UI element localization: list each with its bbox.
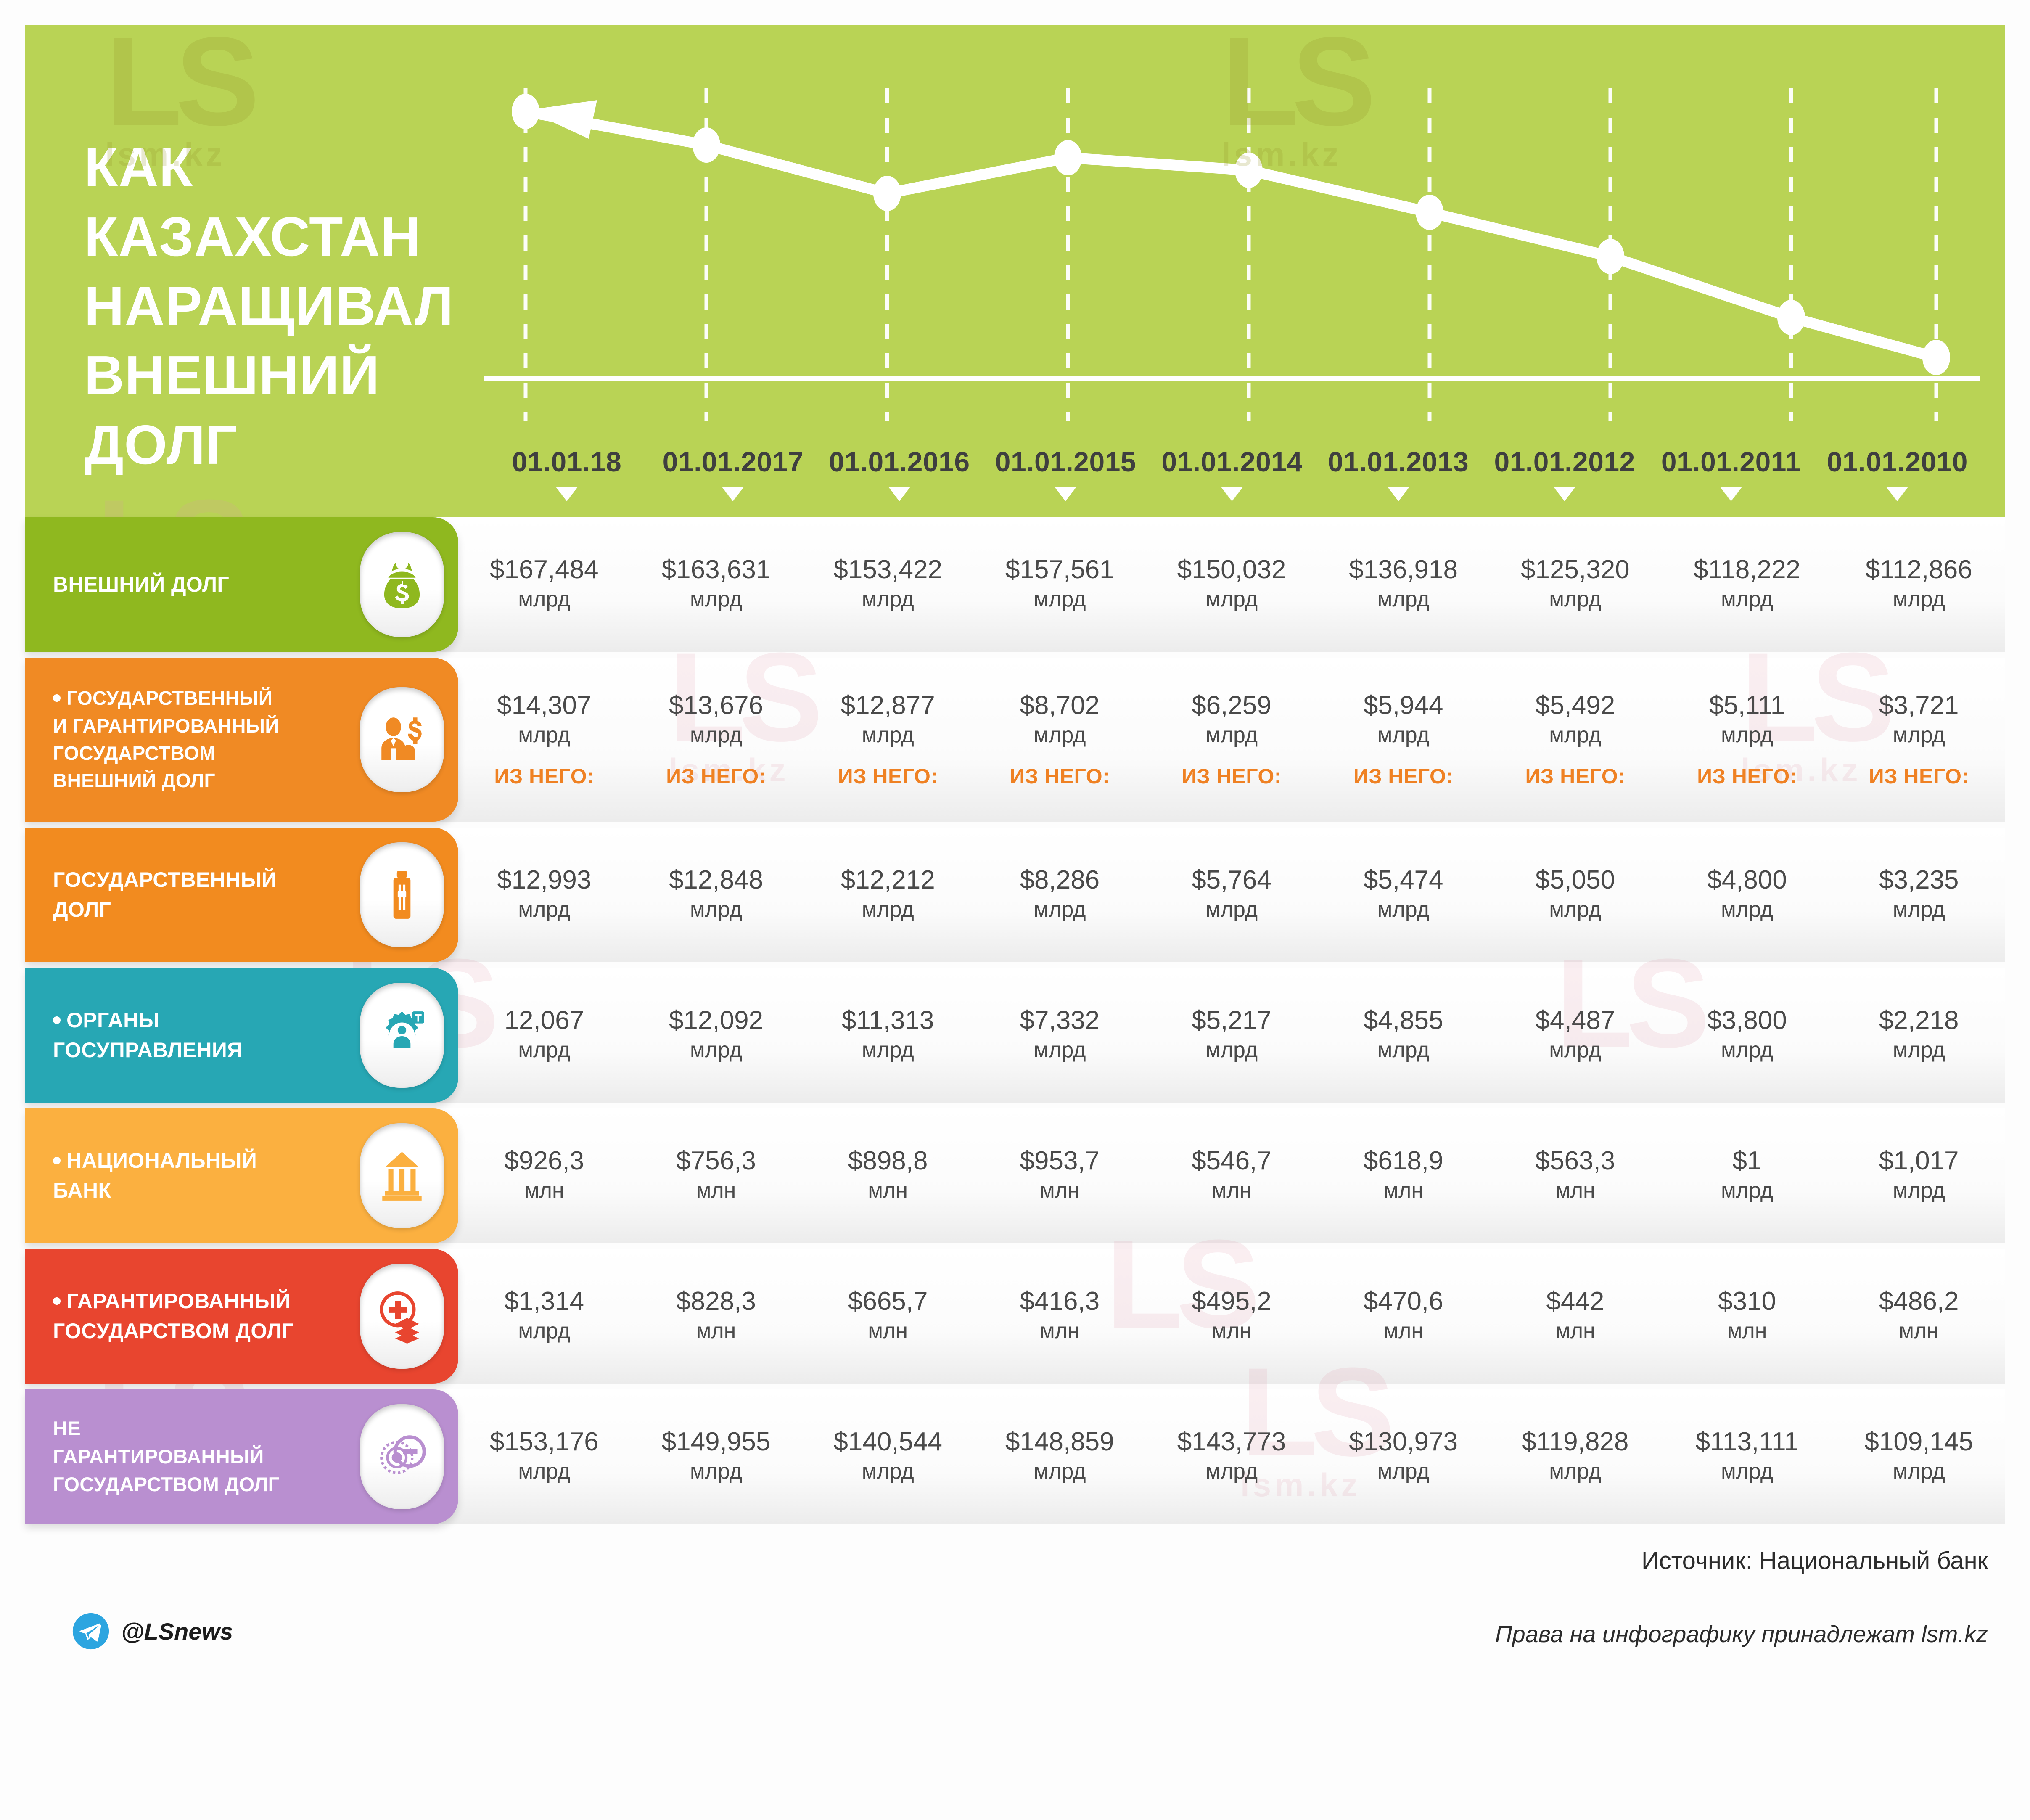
value-number: $1 bbox=[1664, 1146, 1831, 1175]
value-cell: $14,307млрдИЗ НЕГО: bbox=[458, 691, 630, 788]
row-icon-pod bbox=[360, 687, 444, 792]
value-unit: млрд bbox=[1148, 720, 1315, 750]
value-unit: млрд bbox=[1148, 1035, 1315, 1065]
row-values: $14,307млрдИЗ НЕГО: $13,676млрдИЗ НЕГО: … bbox=[458, 658, 2005, 822]
date-pointer-cell bbox=[1315, 487, 1482, 508]
row-values: $1,314млрд $828,3млн $665,7млн $416,3млн… bbox=[458, 1249, 2005, 1384]
chart-markers bbox=[512, 94, 1950, 375]
rights-note: Права на инфографику принадлежат lsm.kz bbox=[1495, 1620, 1988, 1648]
date-label: 01.01.2015 bbox=[983, 446, 1149, 479]
value-unit: млрд bbox=[1664, 1176, 1831, 1205]
value-cell: $310млн bbox=[1661, 1287, 1833, 1346]
value-cell: $11,313млрд bbox=[802, 1006, 974, 1065]
value-number: $13,676 bbox=[633, 691, 800, 720]
value-unit: млрд bbox=[976, 895, 1143, 924]
title-line-4: ВНЕШНИЙ bbox=[84, 341, 505, 410]
chart-series-line bbox=[526, 111, 1936, 357]
value-cell: $953,7млн bbox=[974, 1146, 1146, 1205]
value-number: $486,2 bbox=[1835, 1287, 2002, 1316]
value-cell: $3,235млрд bbox=[1833, 865, 2005, 924]
value-cell: $12,092млрд bbox=[630, 1006, 802, 1065]
value-unit: млн bbox=[1664, 1316, 1831, 1346]
row-label-line: ДОЛГ bbox=[53, 895, 352, 925]
telegram-icon[interactable] bbox=[71, 1612, 110, 1651]
value-unit: млрд bbox=[804, 585, 971, 614]
value-unit: млрд bbox=[1664, 1457, 1831, 1486]
value-cell: $1,314млрд bbox=[458, 1287, 630, 1346]
value-unit: млрд bbox=[1492, 720, 1659, 750]
value-cell: $5,474млрд bbox=[1317, 865, 1489, 924]
value-unit: млн bbox=[633, 1176, 800, 1205]
value-number: 12,067 bbox=[461, 1006, 628, 1035]
value-cell: $136,918млрд bbox=[1317, 555, 1489, 614]
value-cell: $143,773млрд bbox=[1146, 1427, 1318, 1486]
value-unit: млрд bbox=[1835, 720, 2002, 750]
value-cell: $6,259млрдИЗ НЕГО: bbox=[1146, 691, 1318, 788]
debt-line-chart bbox=[484, 88, 1980, 421]
row-label-text: ГОСУДАРСТВЕННЫЙ bbox=[66, 687, 272, 709]
value-number: $8,702 bbox=[976, 691, 1143, 720]
money-plus-icon bbox=[375, 1289, 429, 1344]
value-number: $953,7 bbox=[976, 1146, 1143, 1175]
row-label: ВНЕШНИЙ ДОЛГ bbox=[25, 570, 360, 600]
value-unit: млрд bbox=[1320, 1035, 1487, 1065]
chart-svg bbox=[484, 88, 1980, 421]
title-line-2: КАЗАХСТАН bbox=[84, 202, 505, 271]
value-number: $495,2 bbox=[1148, 1287, 1315, 1316]
row-label: ГОСУДАРСТВЕННЫЙ ДОЛГ bbox=[25, 865, 360, 925]
triangle-down-icon bbox=[1720, 487, 1742, 501]
value-unit: млн bbox=[804, 1176, 971, 1205]
value-cell: $1млрд bbox=[1661, 1146, 1833, 1205]
value-unit: млрд bbox=[461, 1457, 628, 1486]
table-row: LS ВНЕШНИЙ ДОЛГ $167,484млрд $163,631млр… bbox=[25, 517, 2005, 652]
value-sublabel: ИЗ НЕГО: bbox=[461, 764, 628, 788]
value-number: $470,6 bbox=[1320, 1287, 1487, 1316]
value-cell: $4,487млрд bbox=[1489, 1006, 1661, 1065]
value-number: $5,474 bbox=[1320, 865, 1487, 894]
value-cell: $898,8млн bbox=[802, 1146, 974, 1205]
chart-date-axis: 01.01.18 01.01.2017 01.01.2016 01.01.201… bbox=[484, 446, 1980, 479]
date-label: 01.01.2016 bbox=[816, 446, 983, 479]
value-number: $3,721 bbox=[1835, 691, 2002, 720]
date-pointer-cell bbox=[1648, 487, 1814, 508]
hero-chart-band: LS lsm.kz LS lsm.kz КАК КАЗАХСТАН НАРАЩИ… bbox=[25, 25, 2005, 517]
table-row: ГОСУДАРСТВЕННЫЙ ДОЛГ $12,993млрд bbox=[25, 828, 2005, 962]
value-number: $756,3 bbox=[633, 1146, 800, 1175]
value-cell: $4,800млрд bbox=[1661, 865, 1833, 924]
value-unit: млрд bbox=[976, 1035, 1143, 1065]
value-cell: $140,544млрд bbox=[802, 1427, 974, 1486]
title-line-3: НАРАЩИВАЛ bbox=[84, 271, 505, 341]
table-row: LS lsm.kz LS lsm.kz НЕ ГАРАНТИРОВАННЫЙ Г… bbox=[25, 1389, 2005, 1524]
row-label-line: ГОСУПРАВЛЕНИЯ bbox=[53, 1035, 352, 1065]
row-label-text: ОРГАНЫ bbox=[66, 1008, 159, 1032]
row-label-line: ГОСУДАРСТВОМ ДОЛГ bbox=[53, 1316, 352, 1346]
date-pointer-row bbox=[484, 487, 1980, 508]
value-number: $5,492 bbox=[1492, 691, 1659, 720]
value-unit: млрд bbox=[633, 720, 800, 750]
value-unit: млрд bbox=[1148, 895, 1315, 924]
row-icon-pod bbox=[360, 983, 444, 1088]
triangle-down-icon bbox=[1554, 487, 1575, 501]
value-unit: млрд bbox=[1835, 1457, 2002, 1486]
value-unit: млрд bbox=[461, 1035, 628, 1065]
value-number: $618,9 bbox=[1320, 1146, 1487, 1175]
title-line-1: КАК bbox=[84, 132, 505, 202]
value-cell: $5,944млрдИЗ НЕГО: bbox=[1317, 691, 1489, 788]
date-pointer-cell bbox=[650, 487, 817, 508]
value-sublabel: ИЗ НЕГО: bbox=[1664, 764, 1831, 788]
value-cell: $470,6млн bbox=[1317, 1287, 1489, 1346]
value-sublabel: ИЗ НЕГО: bbox=[1492, 764, 1659, 788]
value-number: $5,050 bbox=[1492, 865, 1659, 894]
date-label: 01.01.2010 bbox=[1814, 446, 1981, 479]
value-unit: млрд bbox=[1320, 585, 1487, 614]
value-number: $112,866 bbox=[1835, 555, 2002, 584]
row-label-text: ГАРАНТИРОВАННЫЙ bbox=[66, 1289, 291, 1313]
value-unit: млрд bbox=[1148, 1457, 1315, 1486]
row-label-text: НАЦИОНАЛЬНЫЙ bbox=[66, 1149, 257, 1172]
row-label: ОРГАНЫ ГОСУПРАВЛЕНИЯ bbox=[25, 1005, 360, 1065]
value-sublabel: ИЗ НЕГО: bbox=[976, 764, 1143, 788]
page-footer: Источник: Национальный банк Права на инф… bbox=[25, 1530, 2005, 1681]
value-cell: $125,320млрд bbox=[1489, 555, 1661, 614]
row-icon-pod bbox=[360, 842, 444, 947]
value-number: $665,7 bbox=[804, 1287, 971, 1316]
telegram-link[interactable]: @LSnews bbox=[71, 1612, 233, 1651]
value-number: $148,859 bbox=[976, 1427, 1143, 1456]
value-number: $12,877 bbox=[804, 691, 971, 720]
value-unit: млн bbox=[1320, 1176, 1487, 1205]
table-row: LS LS ОРГАНЫ ГОСУПРАВЛЕНИЯ bbox=[25, 968, 2005, 1103]
value-number: $5,944 bbox=[1320, 691, 1487, 720]
date-pointer-cell bbox=[1814, 487, 1981, 508]
value-cell: $495,2млн bbox=[1146, 1287, 1318, 1346]
value-cell: $3,800млрд bbox=[1661, 1006, 1833, 1065]
value-number: $163,631 bbox=[633, 555, 800, 584]
date-pointer-cell bbox=[983, 487, 1149, 508]
value-cell: $5,111млрдИЗ НЕГО: bbox=[1661, 691, 1833, 788]
value-number: $136,918 bbox=[1320, 555, 1487, 584]
row-label-line: НАЦИОНАЛЬНЫЙ bbox=[53, 1146, 352, 1176]
value-cell: $5,492млрдИЗ НЕГО: bbox=[1489, 691, 1661, 788]
row-label-pod-external-debt: ВНЕШНИЙ ДОЛГ bbox=[25, 517, 458, 652]
value-cell: $8,702млрдИЗ НЕГО: bbox=[974, 691, 1146, 788]
value-cell: $8,286млрд bbox=[974, 865, 1146, 924]
value-unit: млрд bbox=[804, 895, 971, 924]
value-unit: млн bbox=[1320, 1316, 1487, 1346]
value-number: $4,800 bbox=[1664, 865, 1831, 894]
value-unit: млрд bbox=[1664, 585, 1831, 614]
row-values: $926,3млн $756,3млн $898,8млн $953,7млн … bbox=[458, 1108, 2005, 1243]
value-unit: млн bbox=[976, 1316, 1143, 1346]
value-unit: млн bbox=[1492, 1316, 1659, 1346]
value-number: $143,773 bbox=[1148, 1427, 1315, 1456]
value-number: $12,212 bbox=[804, 865, 971, 894]
value-number: $3,800 bbox=[1664, 1006, 1831, 1035]
value-cell: 12,067млрд bbox=[458, 1006, 630, 1065]
value-number: $149,955 bbox=[633, 1427, 800, 1456]
triangle-down-icon bbox=[888, 487, 910, 501]
value-unit: млрд bbox=[1664, 720, 1831, 750]
table-row: LS ГАРАНТИРОВАННЫЙ ГОСУДАРСТВОМ ДОЛГ bbox=[25, 1249, 2005, 1384]
value-unit: млрд bbox=[1492, 1457, 1659, 1486]
value-cell: $109,145млрд bbox=[1833, 1427, 2005, 1486]
value-unit: млрд bbox=[1835, 1176, 2002, 1205]
telegram-handle: @LSnews bbox=[121, 1618, 233, 1645]
value-cell: $7,332млрд bbox=[974, 1006, 1146, 1065]
row-values: $167,484млрд $163,631млрд $153,422млрд $… bbox=[458, 517, 2005, 652]
value-cell: $4,855млрд bbox=[1317, 1006, 1489, 1065]
value-number: $167,484 bbox=[461, 555, 628, 584]
row-label-line: НЕ bbox=[53, 1415, 352, 1443]
value-unit: млрд bbox=[804, 720, 971, 750]
value-cell: $5,217млрд bbox=[1146, 1006, 1318, 1065]
watermark-brand: LS bbox=[105, 29, 253, 133]
value-number: $150,032 bbox=[1148, 555, 1315, 584]
value-cell: $3,721млрдИЗ НЕГО: bbox=[1833, 691, 2005, 788]
value-unit: млрд bbox=[976, 585, 1143, 614]
row-label-pod-state-debt: ГОСУДАРСТВЕННЫЙ ДОЛГ bbox=[25, 828, 458, 962]
value-cell: $149,955млрд bbox=[630, 1427, 802, 1486]
page-title: КАК КАЗАХСТАН НАРАЩИВАЛ ВНЕШНИЙ ДОЛГ bbox=[84, 132, 505, 479]
value-number: $1,314 bbox=[461, 1287, 628, 1316]
value-cell: $153,176млрд bbox=[458, 1427, 630, 1486]
row-values: 12,067млрд $12,092млрд $11,313млрд $7,33… bbox=[458, 968, 2005, 1103]
row-label-line: ГАРАНТИРОВАННЫЙ bbox=[53, 1443, 352, 1471]
value-number: $7,332 bbox=[976, 1006, 1143, 1035]
row-label-pod-government-bodies: ОРГАНЫ ГОСУПРАВЛЕНИЯ bbox=[25, 968, 458, 1103]
value-number: $125,320 bbox=[1492, 555, 1659, 584]
value-number: $118,222 bbox=[1664, 555, 1831, 584]
bullet-icon bbox=[53, 1016, 61, 1024]
row-icon-pod bbox=[360, 1123, 444, 1228]
title-line-5: ДОЛГ bbox=[84, 410, 505, 479]
value-number: $546,7 bbox=[1148, 1146, 1315, 1175]
triangle-down-icon bbox=[1388, 487, 1409, 501]
value-unit: млрд bbox=[461, 720, 628, 750]
value-cell: $12,993млрд bbox=[458, 865, 630, 924]
value-unit: млрд bbox=[1664, 895, 1831, 924]
value-cell: $148,859млрд bbox=[974, 1427, 1146, 1486]
value-number: $12,092 bbox=[633, 1006, 800, 1035]
date-pointer-cell bbox=[484, 487, 650, 508]
value-unit: млрд bbox=[976, 720, 1143, 750]
value-number: $130,973 bbox=[1320, 1427, 1487, 1456]
value-unit: млн bbox=[1148, 1176, 1315, 1205]
value-sublabel: ИЗ НЕГО: bbox=[1835, 764, 2002, 788]
value-cell: $130,973млрд bbox=[1317, 1427, 1489, 1486]
value-cell: $150,032млрд bbox=[1146, 555, 1318, 614]
value-cell: $119,828млрд bbox=[1489, 1427, 1661, 1486]
date-label: 01.01.18 bbox=[484, 446, 650, 479]
bank-icon bbox=[375, 1148, 429, 1203]
value-unit: млрд bbox=[461, 1316, 628, 1346]
value-number: $153,176 bbox=[461, 1427, 628, 1456]
date-label: 01.01.2011 bbox=[1648, 446, 1814, 479]
value-cell: $563,3млн bbox=[1489, 1146, 1661, 1205]
value-unit: млрд bbox=[1835, 1035, 2002, 1065]
value-unit: млрд bbox=[633, 895, 800, 924]
row-icon-pod bbox=[360, 1404, 444, 1509]
row-label-pod-not-guaranteed: НЕ ГАРАНТИРОВАННЫЙ ГОСУДАРСТВОМ ДОЛГ bbox=[25, 1389, 458, 1524]
row-label-pod-state-and-guaranteed: ГОСУДАРСТВЕННЫЙ И ГАРАНТИРОВАННЫЙ ГОСУДА… bbox=[25, 658, 458, 822]
value-number: $563,3 bbox=[1492, 1146, 1659, 1175]
value-unit: млрд bbox=[1492, 585, 1659, 614]
value-sublabel: ИЗ НЕГО: bbox=[1148, 764, 1315, 788]
value-number: $14,307 bbox=[461, 691, 628, 720]
infographic-page: LS lsm.kz LS lsm.kz КАК КАЗАХСТАН НАРАЩИ… bbox=[0, 0, 2030, 1820]
value-number: $12,993 bbox=[461, 865, 628, 894]
row-icon-pod bbox=[360, 532, 444, 637]
value-cell: $118,222млрд bbox=[1661, 555, 1833, 614]
value-number: $157,561 bbox=[976, 555, 1143, 584]
value-sublabel: ИЗ НЕГО: bbox=[1320, 764, 1487, 788]
value-cell: $416,3млн bbox=[974, 1287, 1146, 1346]
value-unit: млн bbox=[804, 1316, 971, 1346]
date-label: 01.01.2014 bbox=[1149, 446, 1315, 479]
value-unit: млрд bbox=[633, 1035, 800, 1065]
value-sublabel: ИЗ НЕГО: bbox=[633, 764, 800, 788]
row-label: ГОСУДАРСТВЕННЫЙ И ГАРАНТИРОВАННЫЙ ГОСУДА… bbox=[25, 685, 360, 794]
table-row: НАЦИОНАЛЬНЫЙ БАНК $926,3млн $756, bbox=[25, 1108, 2005, 1243]
value-unit: млрд bbox=[976, 1457, 1143, 1486]
bullet-icon bbox=[53, 1157, 61, 1164]
row-label-line: БАНК bbox=[53, 1176, 352, 1206]
date-label: 01.01.2013 bbox=[1315, 446, 1482, 479]
value-cell: $153,422млрд bbox=[802, 555, 974, 614]
chart-gridlines bbox=[526, 88, 1936, 421]
row-label-line: ГОСУДАРСТВОМ bbox=[53, 740, 352, 767]
value-number: $1,017 bbox=[1835, 1146, 2002, 1175]
value-number: $310 bbox=[1664, 1287, 1831, 1316]
value-number: $828,3 bbox=[633, 1287, 800, 1316]
data-rows: LS ВНЕШНИЙ ДОЛГ $167,484млрд $163,631млр… bbox=[25, 517, 2005, 1524]
row-label-line: ГОСУДАРСТВЕННЫЙ bbox=[53, 865, 352, 895]
value-cell: $2,218млрд bbox=[1833, 1006, 2005, 1065]
value-number: $113,111 bbox=[1664, 1427, 1831, 1456]
row-icon-pod bbox=[360, 1264, 444, 1369]
value-unit: млрд bbox=[461, 585, 628, 614]
value-unit: млн bbox=[1492, 1176, 1659, 1205]
value-cell: $828,3млн bbox=[630, 1287, 802, 1346]
value-cell: $926,3млн bbox=[458, 1146, 630, 1205]
value-number: $4,855 bbox=[1320, 1006, 1487, 1035]
value-unit: млрд bbox=[1492, 895, 1659, 924]
value-number: $109,145 bbox=[1835, 1427, 2002, 1456]
triangle-down-icon bbox=[556, 487, 578, 501]
value-unit: млн bbox=[461, 1176, 628, 1205]
value-unit: млрд bbox=[1320, 895, 1487, 924]
value-unit: млн bbox=[633, 1316, 800, 1346]
value-unit: млрд bbox=[1492, 1035, 1659, 1065]
date-pointer-cell bbox=[1149, 487, 1315, 508]
source-note: Источник: Национальный банк bbox=[1641, 1547, 1988, 1575]
date-pointer-cell bbox=[1481, 487, 1648, 508]
value-cell: $5,050млрд bbox=[1489, 865, 1661, 924]
table-row: LS lsm.kz LS lsm.kz ГОСУДАРСТВЕННЫЙ И ГА… bbox=[25, 658, 2005, 822]
value-number: $2,218 bbox=[1835, 1006, 2002, 1035]
value-number: $153,422 bbox=[804, 555, 971, 584]
value-number: $5,764 bbox=[1148, 865, 1315, 894]
value-unit: млн bbox=[1835, 1316, 2002, 1346]
value-number: $5,217 bbox=[1148, 1006, 1315, 1035]
value-unit: млрд bbox=[804, 1035, 971, 1065]
value-cell: $756,3млн bbox=[630, 1146, 802, 1205]
value-unit: млн bbox=[976, 1176, 1143, 1205]
value-number: $8,286 bbox=[976, 865, 1143, 894]
value-number: $926,3 bbox=[461, 1146, 628, 1175]
money-bag-icon bbox=[375, 557, 429, 612]
row-label-line: ОРГАНЫ bbox=[53, 1005, 352, 1035]
triangle-down-icon bbox=[1886, 487, 1908, 501]
value-number: $898,8 bbox=[804, 1146, 971, 1175]
value-number: $4,487 bbox=[1492, 1006, 1659, 1035]
value-cell: $486,2млн bbox=[1833, 1287, 2005, 1346]
row-values: $12,993млрд $12,848млрд $12,212млрд $8,2… bbox=[458, 828, 2005, 962]
value-cell: $113,111млрд bbox=[1661, 1427, 1833, 1486]
row-label-line: ГОСУДАРСТВОМ ДОЛГ bbox=[53, 1471, 352, 1499]
value-number: $119,828 bbox=[1492, 1427, 1659, 1456]
gear-person-icon bbox=[375, 1008, 429, 1063]
triangle-down-icon bbox=[1221, 487, 1243, 501]
value-number: $5,111 bbox=[1664, 691, 1831, 720]
value-cell: $665,7млн bbox=[802, 1287, 974, 1346]
row-label-line: И ГАРАНТИРОВАННЫЙ bbox=[53, 712, 352, 740]
value-unit: млн bbox=[1148, 1316, 1315, 1346]
value-cell: $12,877млрдИЗ НЕГО: bbox=[802, 691, 974, 788]
businessman-dollar-icon bbox=[375, 712, 429, 767]
value-unit: млрд bbox=[1320, 1457, 1487, 1486]
value-unit: млрд bbox=[1835, 895, 2002, 924]
value-cell: $13,676млрдИЗ НЕГО: bbox=[630, 691, 802, 788]
value-number: $140,544 bbox=[804, 1427, 971, 1456]
value-unit: млрд bbox=[633, 585, 800, 614]
row-label: НАЦИОНАЛЬНЫЙ БАНК bbox=[25, 1146, 360, 1206]
date-pointer-cell bbox=[816, 487, 983, 508]
value-number: $11,313 bbox=[804, 1006, 971, 1035]
value-unit: млрд bbox=[1835, 585, 2002, 614]
bullet-icon bbox=[53, 694, 61, 702]
row-label-line: ВНЕШНИЙ ДОЛГ bbox=[53, 570, 352, 600]
row-label-pod-national-bank: НАЦИОНАЛЬНЫЙ БАНК bbox=[25, 1108, 458, 1243]
value-cell: $12,848млрд bbox=[630, 865, 802, 924]
value-cell: $157,561млрд bbox=[974, 555, 1146, 614]
value-cell: $163,631млрд bbox=[630, 555, 802, 614]
value-cell: $546,7млн bbox=[1146, 1146, 1318, 1205]
row-label: НЕ ГАРАНТИРОВАННЫЙ ГОСУДАРСТВОМ ДОЛГ bbox=[25, 1415, 360, 1499]
value-unit: млрд bbox=[1320, 720, 1487, 750]
emblem-minus-icon bbox=[375, 1429, 429, 1484]
value-unit: млрд bbox=[1664, 1035, 1831, 1065]
value-number: $3,235 bbox=[1835, 865, 2002, 894]
triangle-down-icon bbox=[1055, 487, 1076, 501]
triangle-down-icon bbox=[722, 487, 744, 501]
date-label: 01.01.2012 bbox=[1481, 446, 1648, 479]
value-unit: млрд bbox=[1148, 585, 1315, 614]
row-label: ГАРАНТИРОВАННЫЙ ГОСУДАРСТВОМ ДОЛГ bbox=[25, 1286, 360, 1346]
value-number: $6,259 bbox=[1148, 691, 1315, 720]
date-label: 01.01.2017 bbox=[650, 446, 817, 479]
value-cell: $112,866млрд bbox=[1833, 555, 2005, 614]
row-label-line: ГОСУДАРСТВЕННЫЙ bbox=[53, 685, 352, 712]
row-label-line: ВНЕШНИЙ ДОЛГ bbox=[53, 767, 352, 794]
value-unit: млрд bbox=[461, 895, 628, 924]
value-cell: $12,212млрд bbox=[802, 865, 974, 924]
value-sublabel: ИЗ НЕГО: bbox=[804, 764, 971, 788]
value-cell: $442млн bbox=[1489, 1287, 1661, 1346]
